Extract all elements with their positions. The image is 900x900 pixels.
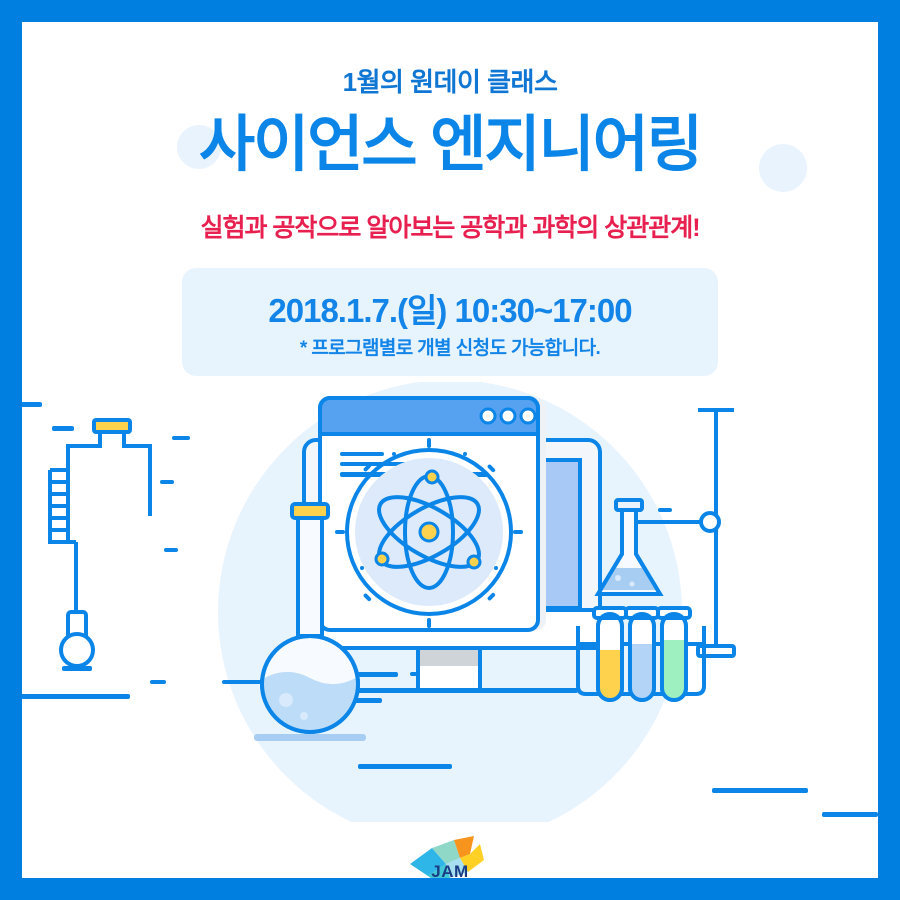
poster-canvas: 1월의 원데이 클래스 사이언스 엔지니어링 실험과 공작으로 알아보는 공학과… <box>22 22 878 878</box>
event-info-box: 2018.1.7.(일) 10:30~17:00 * 프로그램별로 개별 신청도… <box>182 268 718 376</box>
poster-kicker: 1월의 원데이 클래스 <box>22 62 878 99</box>
poster-subtitle: 실험과 공작으로 알아보는 공학과 과학의 상관관계! <box>22 208 878 244</box>
science-illustration <box>22 382 878 822</box>
event-datetime: 2018.1.7.(일) 10:30~17:00 <box>182 284 718 332</box>
page-title: 사이언스 엔지니어링 <box>22 110 878 178</box>
event-note: * 프로그램별로 개별 신청도 가능합니다. <box>182 333 718 360</box>
logo-wordmark: JAM <box>402 862 498 878</box>
organization-logo: JAM JEJU AEROSPACE MUSEUM <box>402 834 498 878</box>
